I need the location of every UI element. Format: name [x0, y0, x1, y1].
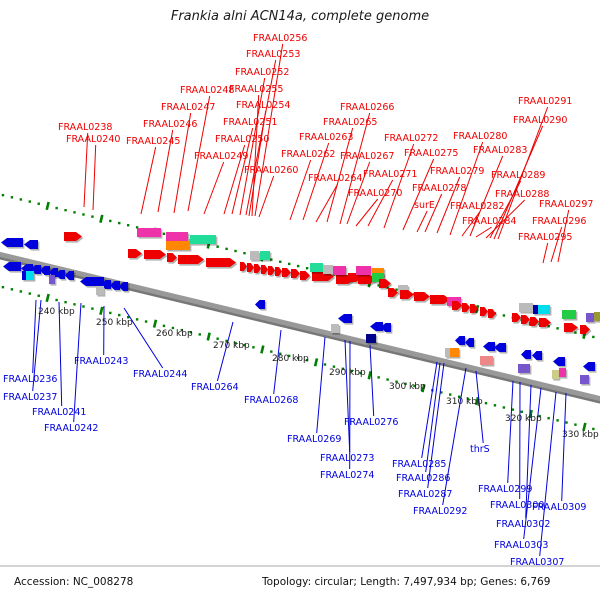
- accession-label: Accession: NC_008278: [14, 576, 133, 588]
- gene-label[interactable]: FRAAL0265: [323, 117, 377, 128]
- gene-label[interactable]: FRAAL0248: [180, 85, 234, 96]
- gene-label[interactable]: FRAAL0241: [32, 407, 86, 418]
- axis-tick-label: 300 kbp: [389, 382, 426, 392]
- gene-label[interactable]: FRAAL0267: [340, 151, 394, 162]
- gene-label[interactable]: FRAAL0263: [299, 132, 353, 143]
- genome-summary-label: Topology: circular; Length: 7,497,934 bp…: [261, 576, 550, 588]
- gene-label[interactable]: FRAAL0268: [244, 395, 298, 406]
- gene-label[interactable]: FRAAL0272: [384, 133, 438, 144]
- gene-label[interactable]: FRAAL0289: [491, 170, 545, 181]
- gene-label[interactable]: FRAAL0250: [215, 134, 269, 145]
- gene-label[interactable]: FRAAL0296: [532, 216, 586, 227]
- gene-label[interactable]: FRAAL0283: [473, 145, 527, 156]
- gene-label[interactable]: FRAAL0302: [496, 519, 550, 530]
- gene-label[interactable]: FRAAL0278: [412, 183, 466, 194]
- page-title: Frankia alni ACN14a, complete genome: [171, 9, 429, 24]
- gene-label[interactable]: FRAAL0236: [3, 374, 57, 385]
- axis-tick-label: 240 kbp: [38, 307, 75, 317]
- gene-label[interactable]: FRAAL0282: [450, 201, 504, 212]
- gene-label[interactable]: FRAAL0286: [396, 473, 450, 484]
- axis-tick-label: 320 kbp: [505, 414, 542, 424]
- gene-label[interactable]: FRAAL0253: [246, 49, 300, 60]
- gene-label[interactable]: FRAAL0299: [478, 484, 532, 495]
- axis-tick-label: 330 kbp: [562, 430, 599, 440]
- gene-label[interactable]: FRAAL0297: [539, 199, 593, 210]
- genome-map-viewer: Frankia alni ACN14a, complete genome FRA…: [0, 0, 600, 600]
- gene-label[interactable]: FRAAL0237: [3, 392, 57, 403]
- gene-label[interactable]: FRAAL0273: [320, 453, 374, 464]
- gene-label[interactable]: FRAAL0242: [44, 423, 98, 434]
- gene-label[interactable]: FRAAL0260: [244, 165, 298, 176]
- gene-label[interactable]: FRAAL0270: [348, 188, 402, 199]
- gene-label[interactable]: FRAAL0247: [161, 102, 215, 113]
- gene-label[interactable]: FRAAL0256: [253, 33, 307, 44]
- gene-label[interactable]: thrS: [470, 444, 490, 455]
- gene-label[interactable]: FRAAL0266: [340, 102, 394, 113]
- axis-tick-label: 310 kbp: [446, 397, 483, 407]
- gene-label[interactable]: FRAAL0303: [494, 540, 548, 551]
- gene-label[interactable]: FRAL0264: [191, 382, 239, 393]
- gene-label[interactable]: FRAAL0255: [229, 84, 283, 95]
- gene-label[interactable]: FRAAL0238: [58, 122, 112, 133]
- gene-label[interactable]: FRAAL0292: [413, 506, 467, 517]
- gene-label[interactable]: FRAAL0243: [74, 356, 128, 367]
- gene-label[interactable]: FRAAL0276: [344, 417, 398, 428]
- gene-label[interactable]: FRAAL0245: [126, 136, 180, 147]
- gene-label[interactable]: surE: [414, 200, 435, 211]
- gene-label[interactable]: FRAAL0254: [236, 100, 290, 111]
- gene-label[interactable]: FRAAL0251: [223, 117, 277, 128]
- gene-label[interactable]: FRAAL0252: [235, 67, 289, 78]
- gene-label[interactable]: FRAAL0279: [430, 166, 484, 177]
- gene-label[interactable]: FRAAL0291: [518, 96, 572, 107]
- gene-label[interactable]: FRAAL0240: [66, 134, 120, 145]
- gene-label[interactable]: FRAAL0285: [392, 459, 446, 470]
- gene-label[interactable]: FRAAL0284: [462, 216, 516, 227]
- gene-label[interactable]: FRAAL0274: [320, 470, 374, 481]
- gene-label[interactable]: FRAAL0244: [133, 369, 187, 380]
- gene-label[interactable]: FRAAL0275: [404, 148, 458, 159]
- genome-map-canvas[interactable]: Frankia alni ACN14a, complete genome FRA…: [0, 0, 600, 600]
- gene-label[interactable]: FRAAL0262: [281, 149, 335, 160]
- axis-tick-label: 280 kbp: [272, 354, 309, 364]
- gene-label[interactable]: FRAAL0264: [308, 173, 362, 184]
- axis-tick-label: 250 kbp: [96, 318, 133, 328]
- gene-label[interactable]: FRAAL0249: [194, 151, 248, 162]
- gene-label[interactable]: FRAAL0309: [532, 502, 586, 513]
- gene-label[interactable]: FRAAL0287: [398, 489, 452, 500]
- gene-label[interactable]: FRAAL0295: [518, 232, 572, 243]
- gene-label[interactable]: FRAAL0271: [363, 169, 417, 180]
- gene-label[interactable]: FRAAL0246: [143, 119, 197, 130]
- axis-tick-label: 290 kbp: [329, 368, 366, 378]
- axis-tick-label: 260 kbp: [156, 329, 193, 339]
- gene-label[interactable]: FRAAL0269: [287, 434, 341, 445]
- axis-tick-label: 270 kbp: [213, 341, 250, 351]
- gene-label[interactable]: FRAAL0290: [513, 115, 567, 126]
- gene-label[interactable]: FRAAL0280: [453, 131, 507, 142]
